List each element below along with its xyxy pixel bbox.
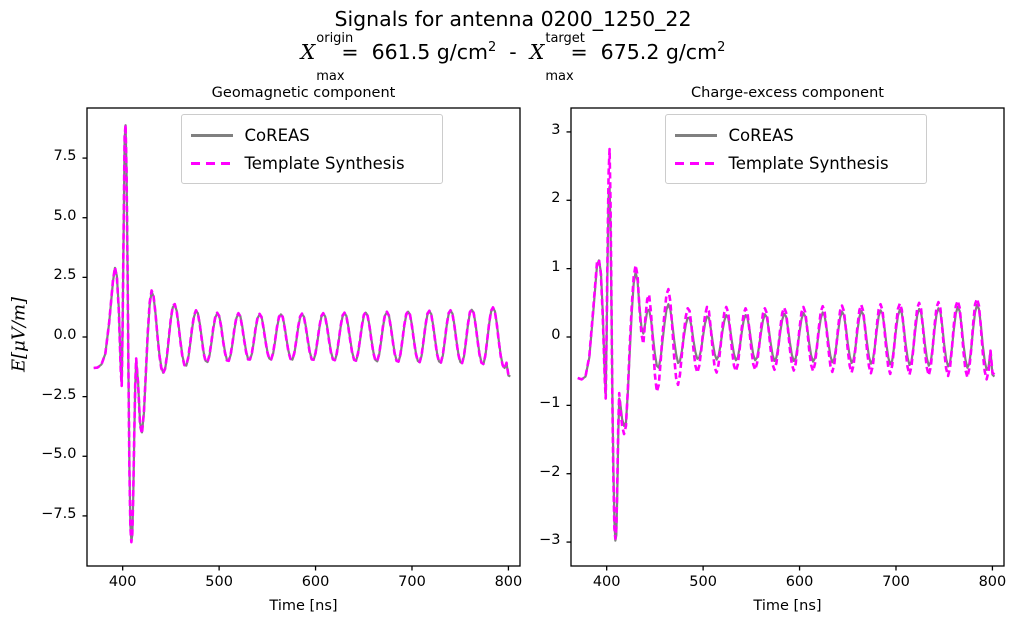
legend-entry[interactable]: CoREAS bbox=[675, 121, 917, 149]
plot-canvas bbox=[0, 0, 1026, 627]
legend-entry[interactable]: Template Synthesis bbox=[675, 149, 917, 177]
figure-canvas: Signals for antenna 0200_1250_22 Xorigin… bbox=[0, 0, 1026, 627]
series-line-template-synthesis bbox=[578, 149, 995, 539]
x-axis-label: Time [ns] bbox=[571, 598, 1004, 614]
legend-line-sample bbox=[675, 128, 717, 142]
legend-line-sample bbox=[675, 156, 717, 170]
legend-label: Template Synthesis bbox=[729, 154, 889, 173]
legend: CoREASTemplate Synthesis bbox=[665, 114, 927, 184]
legend-label: CoREAS bbox=[729, 126, 794, 145]
